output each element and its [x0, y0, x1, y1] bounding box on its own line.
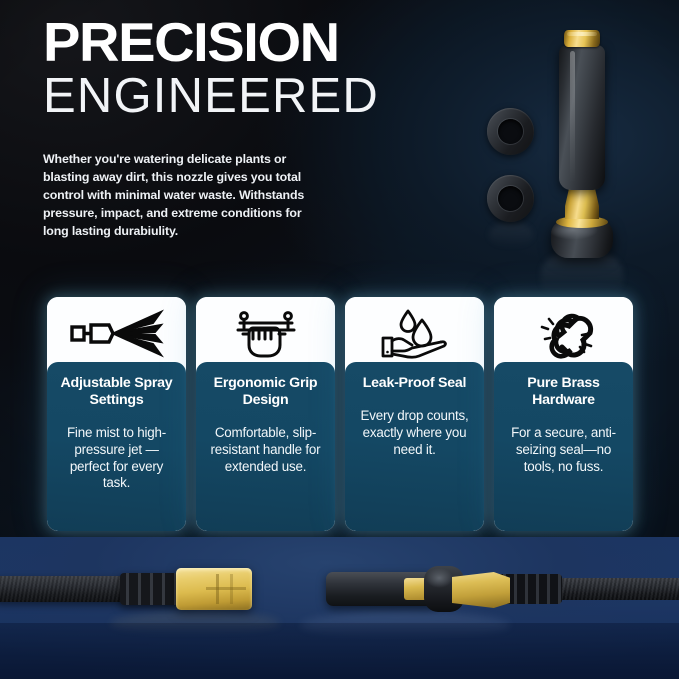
headline-light: ENGINEERED: [43, 71, 463, 122]
headline-strong: PRECISION: [43, 16, 471, 69]
feature-card-body: Adjustable Spray Settings Fine mist to h…: [47, 362, 186, 531]
feature-card-body: Ergonomic Grip Design Comfortable, slip-…: [196, 362, 335, 531]
feature-card-grid: Adjustable Spray Settings Fine mist to h…: [47, 297, 633, 531]
feature-card-body: Leak-Proof Seal Every drop counts, exact…: [345, 362, 484, 531]
nozzle-brass-neck: [565, 185, 599, 219]
feature-card-desc: Fine mist to high-pressure jet — perfect…: [56, 425, 177, 492]
nozzle-body-group: [550, 30, 614, 252]
feature-card-title: Ergonomic Grip Design: [205, 375, 326, 409]
nozzle-brass-cap: [564, 30, 600, 47]
feature-card[interactable]: Leak-Proof Seal Every drop counts, exact…: [345, 297, 484, 531]
hand-grip-icon: [196, 297, 335, 371]
left-hose-collar: [120, 573, 178, 605]
right-brass-valve: [452, 572, 510, 608]
nozzle-barrel: [559, 45, 605, 190]
feature-card-desc: Comfortable, slip-resistant handle for e…: [205, 425, 326, 475]
chain-link-icon: [494, 297, 633, 371]
hero-description: Whether you're watering delicate plants …: [43, 150, 311, 241]
feature-card-title: Adjustable Spray Settings: [56, 375, 177, 409]
feature-card-title: Pure Brass Hardware: [503, 375, 624, 409]
left-reflection: [110, 612, 280, 634]
rubber-washer: [487, 175, 534, 222]
rubber-washer: [487, 108, 534, 155]
headline-block: PRECISION ENGINEERED: [43, 16, 463, 122]
feature-card[interactable]: Pure Brass Hardware For a secure, anti-s…: [494, 297, 633, 531]
feature-card-desc: Every drop counts, exactly where you nee…: [354, 408, 475, 458]
infographic-page: PRECISION ENGINEERED Whether you're wate…: [0, 0, 679, 679]
washer-hole: [498, 186, 523, 211]
product-image: [455, 12, 679, 282]
left-brass-fitting: [176, 568, 252, 610]
spray-nozzle-icon: [47, 297, 186, 371]
washer-hole: [498, 119, 523, 144]
washer-reflection: [489, 222, 533, 248]
feature-card[interactable]: Adjustable Spray Settings Fine mist to h…: [47, 297, 186, 531]
water-drop-hand-icon: [345, 297, 484, 371]
feature-card-title: Leak-Proof Seal: [354, 375, 475, 392]
feature-card-body: Pure Brass Hardware For a secure, anti-s…: [494, 362, 633, 531]
feature-card[interactable]: Ergonomic Grip Design Comfortable, slip-…: [196, 297, 335, 531]
bottom-product-band: [0, 537, 679, 679]
right-reflection: [300, 612, 510, 638]
feature-card-desc: For a secure, anti-seizing seal—no tools…: [503, 425, 624, 475]
